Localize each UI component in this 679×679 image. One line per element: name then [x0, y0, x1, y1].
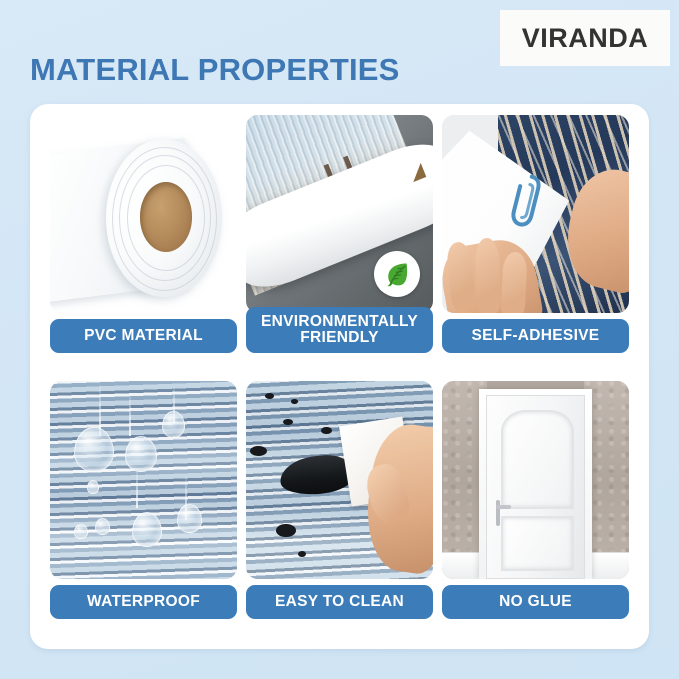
wp-droplet	[125, 436, 157, 472]
feature-card-no-glue: NO GLUE	[442, 381, 629, 638]
features-grid: PVC MATERIAL	[50, 115, 629, 638]
feature-image-environmentally-friendly	[246, 115, 433, 313]
ng-door-handle-lever	[496, 505, 511, 509]
wp-droplet	[74, 427, 113, 473]
ng-door-handle	[496, 500, 500, 526]
eco-badge	[374, 251, 420, 297]
ng-skirting-right	[590, 552, 629, 579]
ng-skirting-left	[442, 552, 481, 579]
sa-finger	[474, 237, 501, 313]
feature-image-self-adhesive	[442, 115, 629, 313]
feature-image-waterproof	[50, 381, 237, 579]
feature-image-pvc-material	[50, 115, 237, 313]
feature-label-waterproof: WATERPROOF	[50, 585, 237, 619]
wp-droplet	[177, 504, 201, 534]
infographic-page: VIRANDA MATERIAL PROPERTIES PVC MATERIAL	[0, 0, 679, 679]
ng-door-panel-bottom	[501, 516, 575, 571]
feature-label-line: ENVIRONMENTALLY	[261, 314, 418, 330]
feature-label-line: WATERPROOF	[87, 594, 200, 610]
feature-label-line: FRIENDLY	[261, 330, 418, 346]
feature-label-line: PVC MATERIAL	[84, 328, 203, 344]
ec-stain	[250, 446, 267, 456]
feature-label-no-glue: NO GLUE	[442, 585, 629, 619]
feature-card-easy-to-clean: EASY TO CLEAN	[246, 381, 433, 638]
feature-label-line: EASY TO CLEAN	[275, 594, 404, 610]
feature-label-easy-to-clean: EASY TO CLEAN	[246, 585, 433, 619]
wp-surface	[50, 381, 237, 579]
feature-card-pvc-material: PVC MATERIAL	[50, 115, 237, 372]
feature-card-waterproof: WATERPROOF	[50, 381, 237, 638]
wp-droplet	[87, 480, 98, 494]
feature-card-environmentally-friendly: ENVIRONMENTALLY FRIENDLY	[246, 115, 433, 372]
leaf-icon	[383, 260, 411, 288]
sa-finger	[500, 251, 528, 313]
feature-label-environmentally-friendly: ENVIRONMENTALLY FRIENDLY	[246, 307, 433, 353]
wp-trail	[129, 393, 131, 437]
ng-door-frame	[479, 389, 591, 579]
brand-logo: VIRANDA	[500, 10, 670, 66]
feature-card-self-adhesive: SELF-ADHESIVE	[442, 115, 629, 372]
ec-stain	[283, 419, 292, 425]
features-panel: PVC MATERIAL	[30, 104, 649, 649]
feature-label-line: SELF-ADHESIVE	[472, 328, 600, 344]
pvc-cardboard-core	[140, 182, 192, 251]
ec-stain	[265, 393, 274, 399]
feature-label-self-adhesive: SELF-ADHESIVE	[442, 319, 629, 353]
ng-door	[486, 395, 585, 579]
feature-image-no-glue	[442, 381, 629, 579]
ec-stain	[291, 399, 298, 404]
wp-droplet	[162, 411, 185, 439]
page-title: MATERIAL PROPERTIES	[30, 52, 400, 88]
feature-label-pvc-material: PVC MATERIAL	[50, 319, 237, 353]
feature-label-line: NO GLUE	[499, 594, 572, 610]
wp-droplet	[74, 524, 87, 540]
brand-name: VIRANDA	[522, 23, 649, 54]
ng-door-panel-top	[501, 410, 575, 509]
wp-trail	[136, 468, 138, 508]
feature-image-easy-to-clean	[246, 381, 433, 579]
wp-droplet	[95, 518, 110, 536]
